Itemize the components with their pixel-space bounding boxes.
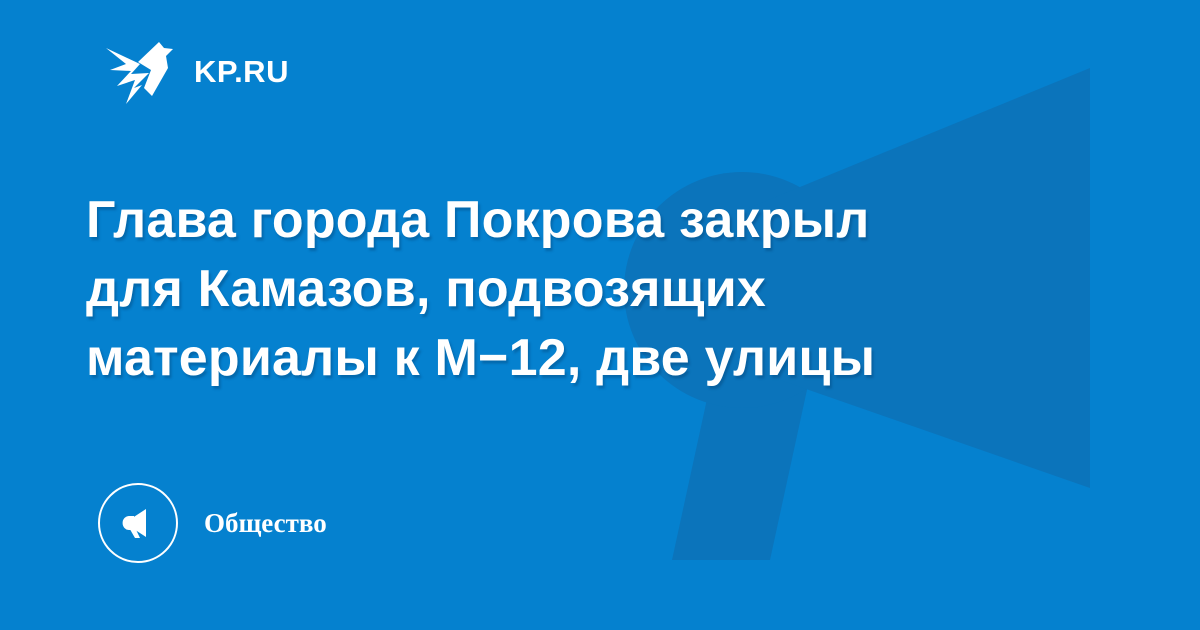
rubric-badge <box>98 483 178 563</box>
rubric-label: Общество <box>204 510 327 537</box>
share-card: KP.RU Глава города Покрова закрыл для Ка… <box>0 0 1200 630</box>
headline: Глава города Покрова закрыл для Камазов,… <box>86 186 1026 393</box>
rubric[interactable]: Общество <box>98 483 327 563</box>
brand-wordmark: KP.RU <box>194 56 289 87</box>
megaphone-icon <box>116 501 160 545</box>
swallow-bird-icon <box>104 36 176 106</box>
brand-logo[interactable]: KP.RU <box>104 36 289 106</box>
